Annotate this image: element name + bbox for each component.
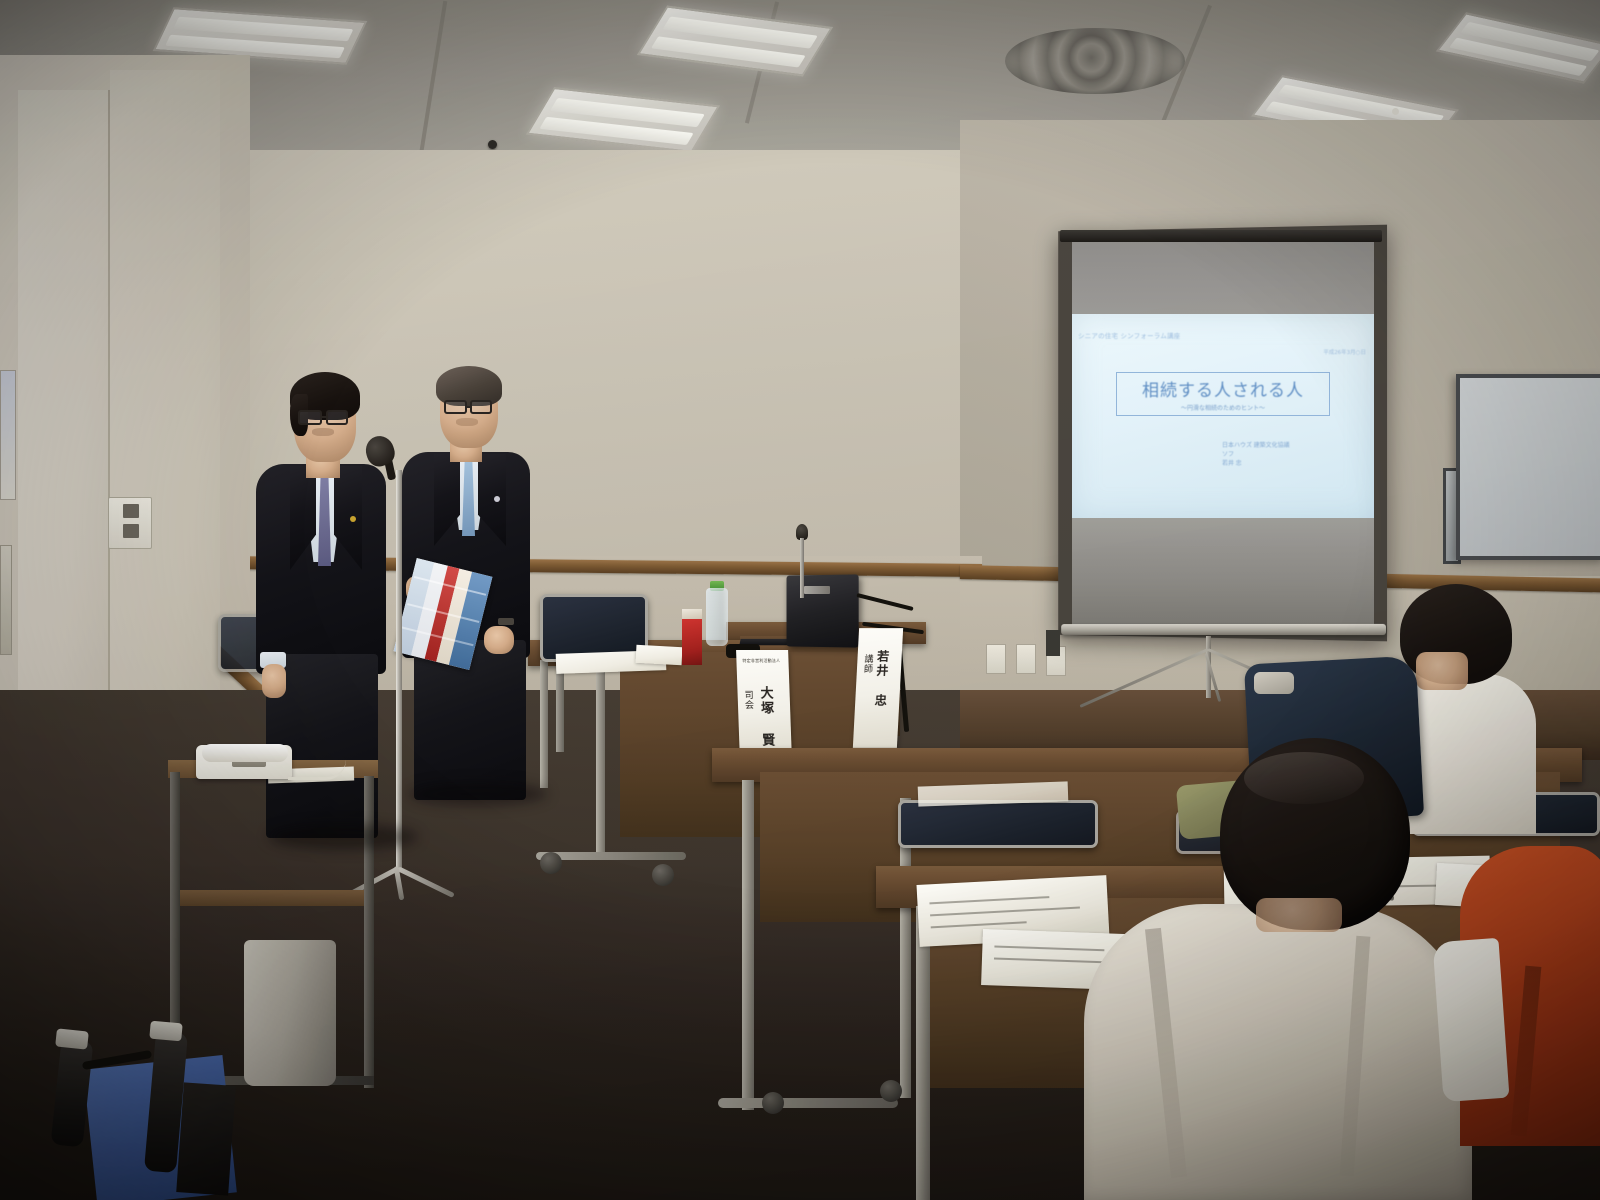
wheelchair-frame — [176, 1082, 236, 1195]
power-outlet-icon — [986, 644, 1006, 674]
speaker-right-hand — [484, 626, 514, 654]
trash-bin — [244, 940, 336, 1086]
table-caster — [762, 1092, 784, 1114]
eyeglasses-icon — [444, 400, 467, 414]
placard-name: 若井 忠 — [872, 650, 892, 708]
white-cloth-bag — [1432, 938, 1509, 1102]
lapel-pin-icon — [350, 516, 356, 522]
ceiling-air-diffuser-icon — [1005, 28, 1185, 94]
placard-name: 大塚 賢 — [755, 686, 776, 748]
table-leg — [916, 906, 930, 1200]
placard-role-label: 司会 — [741, 690, 755, 710]
projected-slide: シニアの住宅 シンフォーラム講座 平成26年3月○日 相続する人される人 〜円滑… — [1072, 314, 1374, 518]
table-microphone-stand — [800, 538, 804, 598]
ceiling-fitting-icon — [1392, 108, 1399, 115]
paper-stack — [636, 645, 683, 665]
side-table-leg — [364, 776, 374, 1088]
slide-title: 相続する人される人 — [1142, 376, 1304, 401]
laptop-logo — [804, 586, 830, 594]
placard-sublabel: 特定非営利活動法人 — [742, 658, 780, 664]
table-leg — [742, 780, 754, 1110]
jacket-collar — [1254, 672, 1294, 694]
audience-back-neck — [1416, 652, 1468, 690]
whiteboard — [1456, 374, 1600, 560]
wristwatch-icon — [498, 618, 514, 625]
projection-screen-roller — [1061, 624, 1386, 635]
slide-subtitle: 〜円滑な相続のためのヒント〜 — [1181, 403, 1265, 412]
table-foot-rail — [718, 1098, 898, 1108]
slide-date-text: 平成26年3月○日 — [1323, 348, 1366, 356]
table-caster — [540, 852, 562, 874]
telephone-handset[interactable] — [202, 744, 288, 762]
slide-title-box: 相続する人される人 〜円滑な相続のためのヒント〜 — [1116, 372, 1330, 416]
slide-credit-block: 日本ハウズ 建築文化協議 ソフ 若井 忠 — [1222, 442, 1290, 469]
audience-front — [1062, 722, 1482, 1200]
speaker-left-hand — [262, 664, 286, 698]
wheelchair-handle-grip — [149, 1021, 182, 1042]
side-table-shelf — [176, 890, 372, 906]
wheelchair — [30, 1010, 250, 1200]
face-shadow — [312, 428, 334, 436]
projection-screen-bracket — [1046, 630, 1060, 656]
face-shadow — [456, 418, 478, 426]
name-placard: 講師 若井 忠 — [853, 628, 903, 748]
smoke-detector-icon — [488, 140, 497, 149]
hair-highlight — [1244, 752, 1364, 804]
projection-screen-blank-area — [1072, 242, 1374, 314]
wall-poster — [0, 370, 16, 500]
table-caster — [880, 1080, 902, 1102]
audience-front-neck — [1256, 898, 1342, 932]
eyeglasses-bridge — [321, 416, 327, 418]
slide-header-text: シニアの住宅 シンフォーラム講座 — [1078, 330, 1180, 340]
microphone-stand[interactable] — [396, 470, 402, 870]
name-placard: 司会 大塚 賢 特定非営利活動法人 — [736, 650, 792, 760]
eyeglasses-icon — [470, 400, 492, 414]
table-caster — [652, 864, 674, 886]
red-carton — [682, 619, 702, 665]
wall-notice — [0, 545, 12, 655]
power-outlet-icon — [108, 497, 152, 549]
eyeglasses-icon — [298, 410, 322, 425]
power-outlet-icon — [1016, 644, 1036, 674]
eyeglasses-bridge — [466, 406, 471, 408]
slide-credit-line-1: 日本ハウズ 建築文化協議 — [1222, 442, 1290, 451]
slide-credit-line-2: ソフ — [1222, 451, 1290, 460]
floor-shadow — [408, 782, 548, 806]
slide-credit-line-3: 若井 忠 — [1222, 460, 1290, 469]
lapel-pin-icon — [494, 496, 500, 502]
projection-screen-top-bar — [1060, 230, 1382, 242]
table-leg — [596, 662, 605, 858]
eyeglasses-icon — [326, 410, 348, 425]
seminar-room-photograph: シニアの住宅 シンフォーラム講座 平成26年3月○日 相続する人される人 〜円滑… — [0, 0, 1600, 1200]
water-bottle — [706, 588, 728, 646]
projection-screen-lower — [1072, 518, 1374, 630]
placard-role-label: 講師 — [861, 654, 875, 674]
floor-shadow — [268, 824, 418, 850]
audience-front-jacket — [1084, 904, 1472, 1200]
wheelchair-push-handle[interactable] — [51, 1039, 94, 1148]
wheelchair-handle-grip — [55, 1028, 89, 1049]
